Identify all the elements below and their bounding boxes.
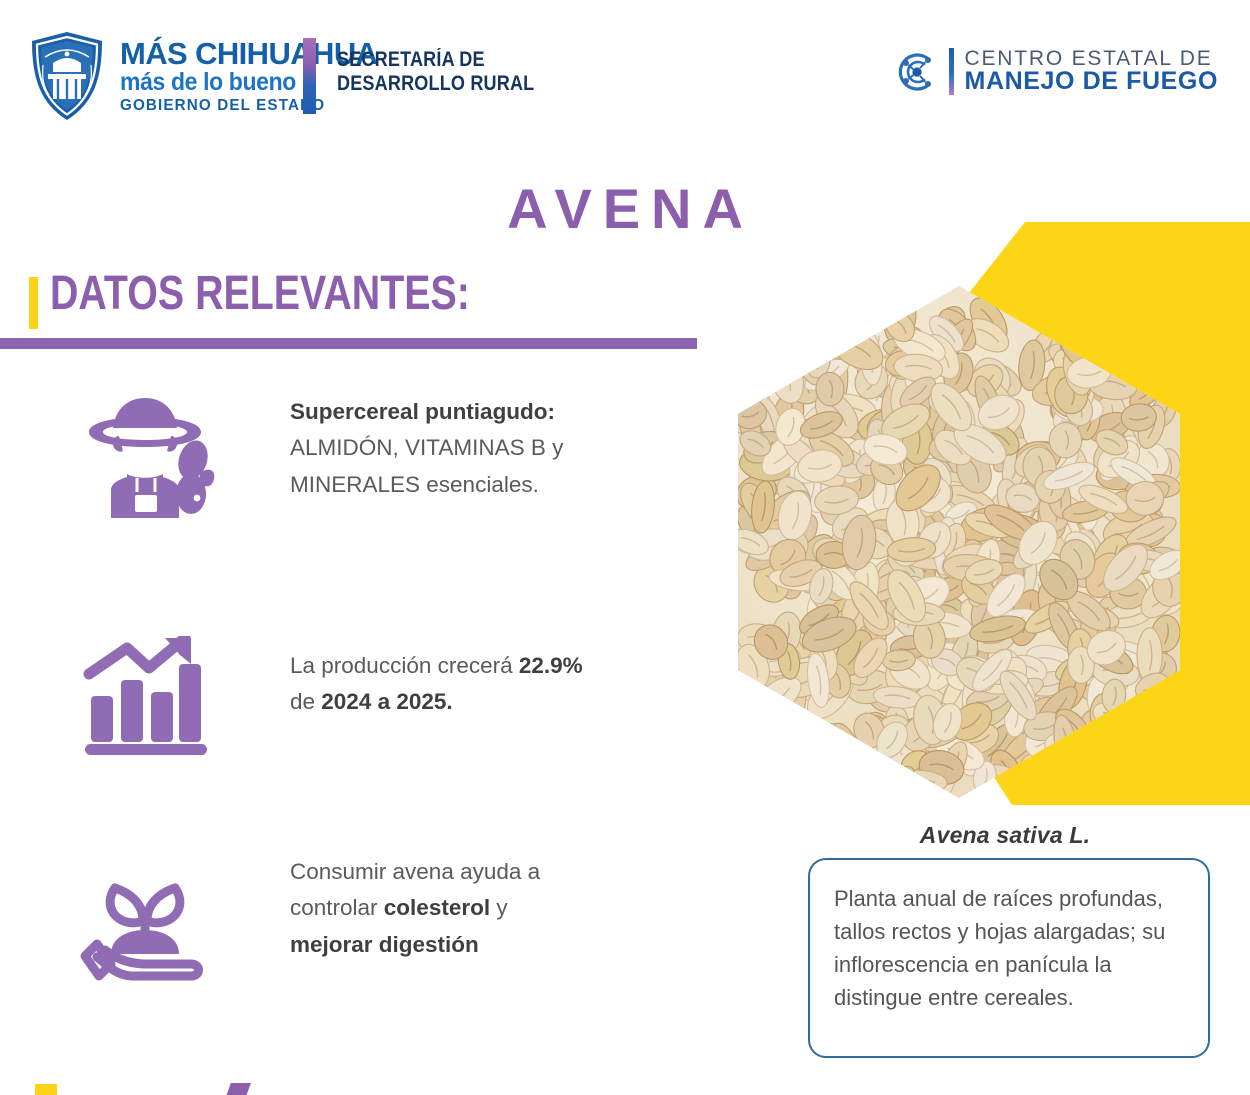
government-logo: MÁS CHIHUAHUA más de lo bueno GOBIERNO D…	[28, 28, 377, 123]
fact-text: La producción crecerá 22.9% de 2024 a 20…	[290, 620, 590, 721]
facts-list: Supercereal puntiagudo: ALMIDÓN, VITAMIN…	[0, 380, 740, 1040]
fire-center-divider	[949, 48, 954, 95]
list-item: Consumir avena ayuda a controlar coleste…	[0, 850, 740, 1040]
gov-line-2: más de lo bueno	[120, 70, 357, 95]
secretariat-line-2: DESARROLLO RURAL	[337, 72, 534, 96]
header-divider-bar	[303, 38, 316, 114]
scientific-name-caption: Avena sativa L.	[805, 822, 1205, 849]
sliver-purple-shape	[225, 1083, 251, 1095]
sliver-yellow-square	[35, 1084, 57, 1095]
hero-visual	[720, 196, 1250, 826]
hand-holding-seedling-icon	[0, 850, 290, 988]
secretariat-line-1: SECRETARÍA DE	[337, 48, 534, 72]
list-item: La producción crecerá 22.9% de 2024 a 20…	[0, 620, 740, 850]
list-item: Supercereal puntiagudo: ALMIDÓN, VITAMIN…	[0, 380, 740, 620]
fire-center-line-2: MANEJO DE FUEGO	[965, 69, 1218, 95]
fire-center-wordmark: CENTRO ESTATAL DE MANEJO DE FUEGO	[965, 48, 1218, 95]
section-heading: DATOS RELEVANTES:	[0, 272, 720, 344]
section-heading-label: DATOS RELEVANTES:	[50, 266, 470, 321]
yellow-tick-accent	[29, 277, 38, 329]
secretariat-wordmark: SECRETARÍA DE DESARROLLO RURAL	[337, 48, 534, 95]
fire-center-line-1: CENTRO ESTATAL DE	[965, 48, 1218, 69]
network-nodes-circle-icon	[894, 49, 940, 95]
next-section-sliver	[0, 1082, 1250, 1095]
fact-text: Consumir avena ayuda a controlar coleste…	[290, 850, 590, 963]
section-divider-rule	[0, 338, 697, 349]
farmer-with-hat-icon	[0, 380, 290, 518]
species-description-box: Planta anual de raíces profundas, tallos…	[808, 858, 1210, 1058]
chihuahua-state-shield-icon	[28, 30, 106, 122]
page-header: MÁS CHIHUAHUA más de lo bueno GOBIERNO D…	[0, 0, 1250, 150]
fire-center-logo: CENTRO ESTATAL DE MANEJO DE FUEGO	[894, 48, 1218, 95]
gov-line-3: GOBIERNO DEL ESTADO	[120, 98, 365, 114]
fact-text: Supercereal puntiagudo: ALMIDÓN, VITAMIN…	[290, 380, 590, 503]
bar-chart-growth-icon	[0, 620, 290, 756]
